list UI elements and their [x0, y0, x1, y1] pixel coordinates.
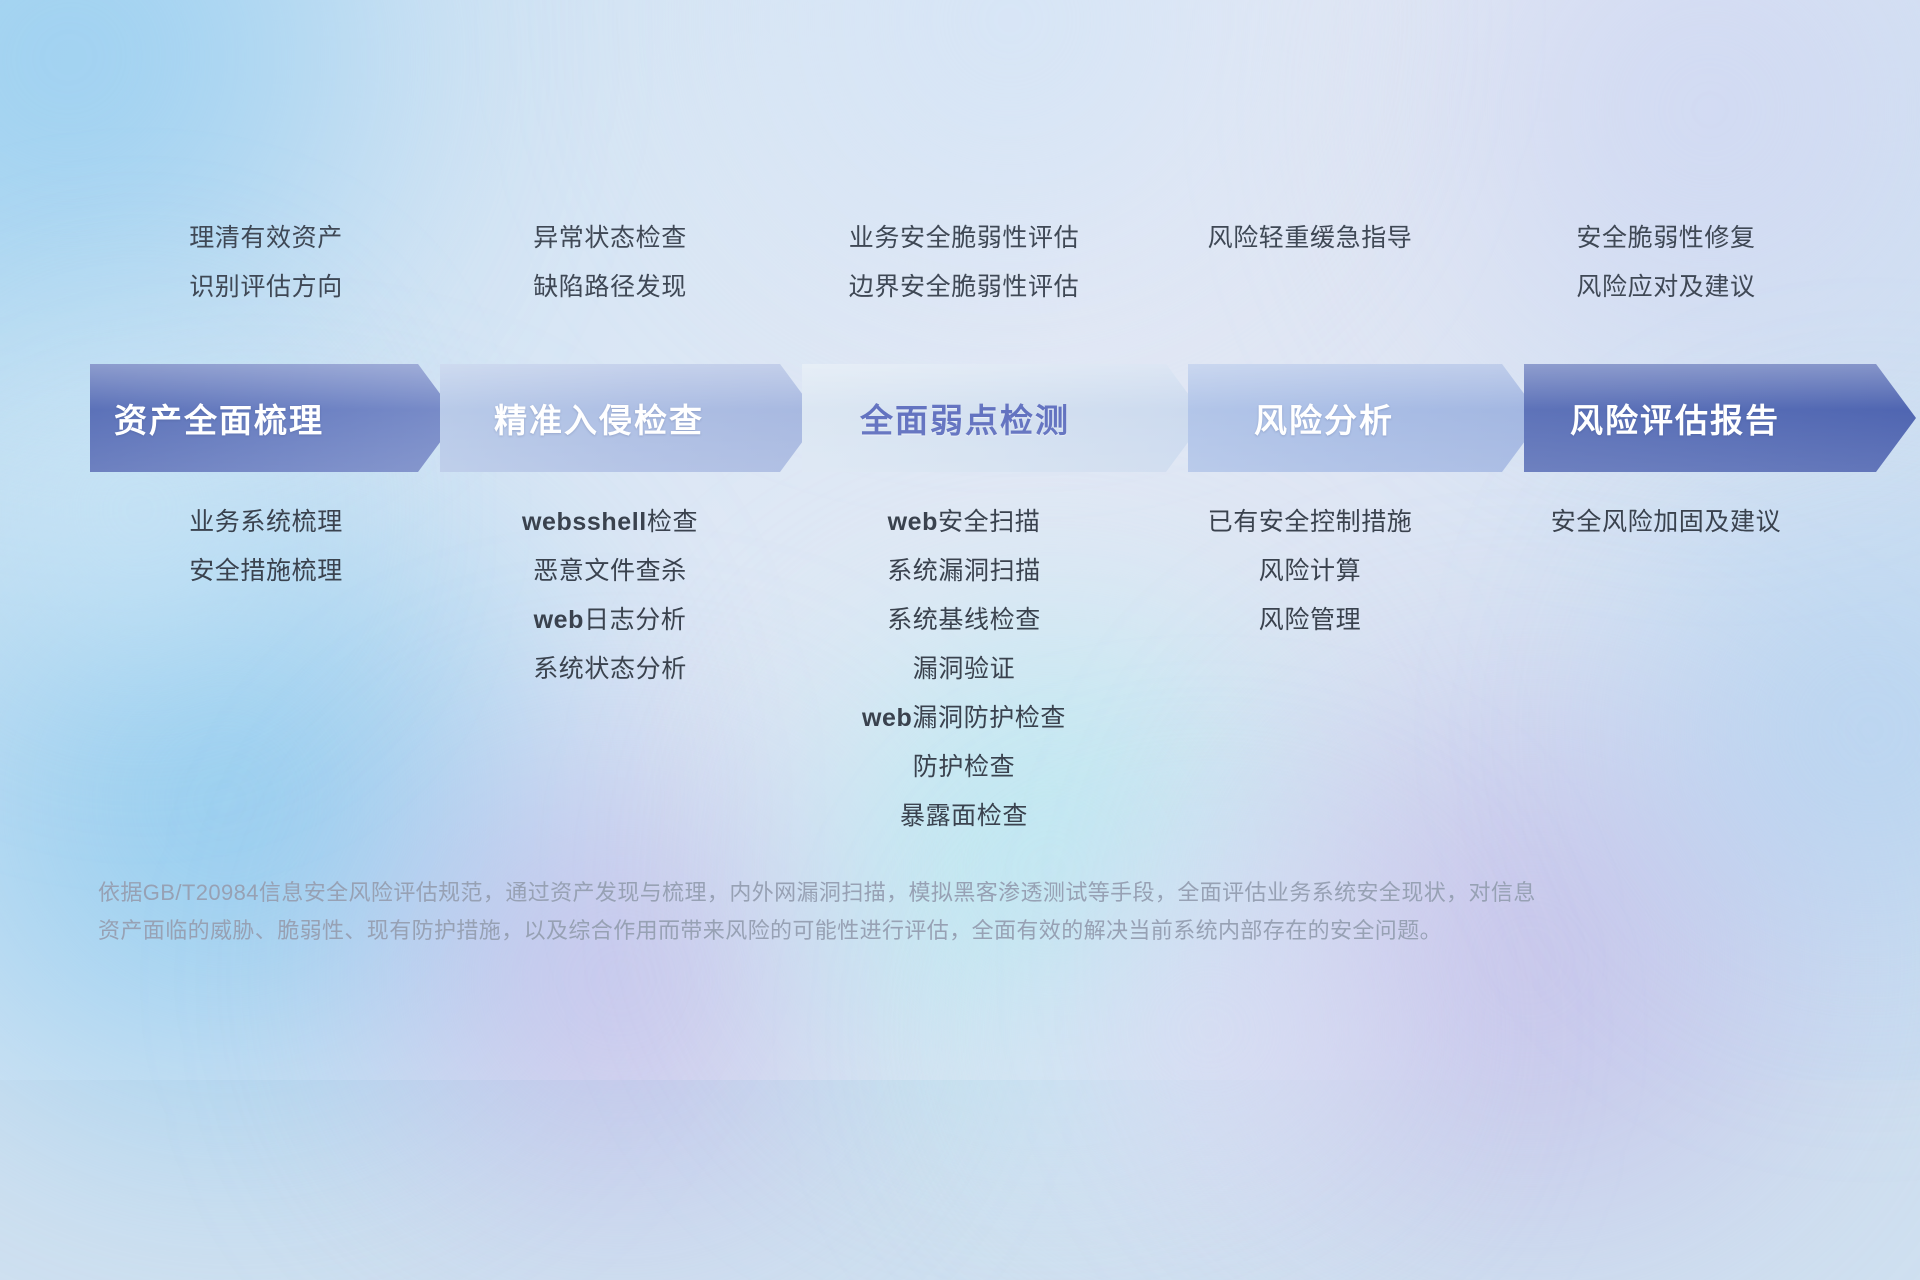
step-label: 精准入侵检查 — [494, 394, 704, 442]
task-label: 漏洞验证 — [913, 645, 1015, 694]
output-label: 业务安全脆弱性评估 — [849, 214, 1079, 263]
process-chevron-bar: 资产全面梳理 精准入侵检查 全面弱点检测 风险分析 风险评估报告 — [90, 364, 1860, 472]
task-label: 暴露面检查 — [900, 792, 1028, 841]
step-outputs-band: 理清有效资产 识别评估方向 异常状态检查 缺陷路径发现 业务安全脆弱性评估 边界… — [96, 214, 1856, 344]
step-5-tasks: 安全风险加固及建议 — [1476, 498, 1856, 828]
task-label: websshell检查 — [522, 498, 698, 547]
step-4-outputs: 风险轻重缓急指导 — [1144, 214, 1476, 344]
step-label: 资产全面梳理 — [114, 394, 324, 442]
step-5-outputs: 安全脆弱性修复 风险应对及建议 — [1476, 214, 1856, 344]
output-label: 风险轻重缓急指导 — [1208, 214, 1413, 263]
task-label: 风险管理 — [1259, 596, 1361, 645]
output-label: 识别评估方向 — [189, 263, 343, 312]
task-label: 恶意文件查杀 — [533, 547, 687, 596]
step-2-tasks: websshell检查 恶意文件查杀 web日志分析 系统状态分析 — [436, 498, 784, 828]
output-label: 缺陷路径发现 — [533, 263, 687, 312]
step-tasks-band: 业务系统梳理 安全措施梳理 websshell检查 恶意文件查杀 web日志分析… — [96, 498, 1856, 828]
task-label: 风险计算 — [1259, 547, 1361, 596]
step-label: 风险分析 — [1254, 394, 1394, 442]
diagram-stage: 理清有效资产 识别评估方向 异常状态检查 缺陷路径发现 业务安全脆弱性评估 边界… — [0, 0, 1920, 1080]
output-label: 理清有效资产 — [189, 214, 343, 263]
footer-line-1: 依据GB/T20984信息安全风险评估规范，通过资产发现与梳理，内外网漏洞扫描，… — [98, 874, 1638, 912]
task-label: 已有安全控制措施 — [1208, 498, 1413, 547]
step-1-outputs: 理清有效资产 识别评估方向 — [96, 214, 436, 344]
output-label: 异常状态检查 — [533, 214, 687, 263]
process-step-intrusion-check[interactable]: 精准入侵检查 — [440, 364, 820, 472]
step-1-tasks: 业务系统梳理 安全措施梳理 — [96, 498, 436, 828]
output-label: 风险应对及建议 — [1576, 263, 1755, 312]
step-label: 风险评估报告 — [1570, 394, 1780, 442]
process-step-risk-analysis[interactable]: 风险分析 — [1188, 364, 1542, 472]
process-step-weakness-detection[interactable]: 全面弱点检测 — [802, 364, 1206, 472]
task-label: web安全扫描 — [888, 498, 1041, 547]
step-3-outputs: 业务安全脆弱性评估 边界安全脆弱性评估 — [784, 214, 1144, 344]
step-4-tasks: 已有安全控制措施 风险计算 风险管理 — [1144, 498, 1476, 828]
task-label: 安全措施梳理 — [189, 547, 343, 596]
task-label: 系统漏洞扫描 — [887, 547, 1041, 596]
task-label: 防护检查 — [913, 743, 1015, 792]
task-label: web日志分析 — [534, 596, 687, 645]
step-3-tasks: web安全扫描 系统漏洞扫描 系统基线检查 漏洞验证 web漏洞防护检查 防护检… — [784, 498, 1144, 828]
footer-description: 依据GB/T20984信息安全风险评估规范，通过资产发现与梳理，内外网漏洞扫描，… — [98, 874, 1638, 950]
task-label: 业务系统梳理 — [189, 498, 343, 547]
footer-line-2: 资产面临的威胁、脆弱性、现有防护措施，以及综合作用而带来风险的可能性进行评估，全… — [98, 912, 1638, 950]
task-label: 安全风险加固及建议 — [1551, 498, 1781, 547]
process-step-risk-report[interactable]: 风险评估报告 — [1524, 364, 1916, 472]
task-label: 系统状态分析 — [533, 645, 687, 694]
process-step-asset-inventory[interactable]: 资产全面梳理 — [90, 364, 458, 472]
step-2-outputs: 异常状态检查 缺陷路径发现 — [436, 214, 784, 344]
task-label: web漏洞防护检查 — [862, 694, 1066, 743]
output-label: 安全脆弱性修复 — [1576, 214, 1755, 263]
task-label: 系统基线检查 — [887, 596, 1041, 645]
step-label: 全面弱点检测 — [860, 394, 1070, 442]
output-label: 边界安全脆弱性评估 — [849, 263, 1079, 312]
